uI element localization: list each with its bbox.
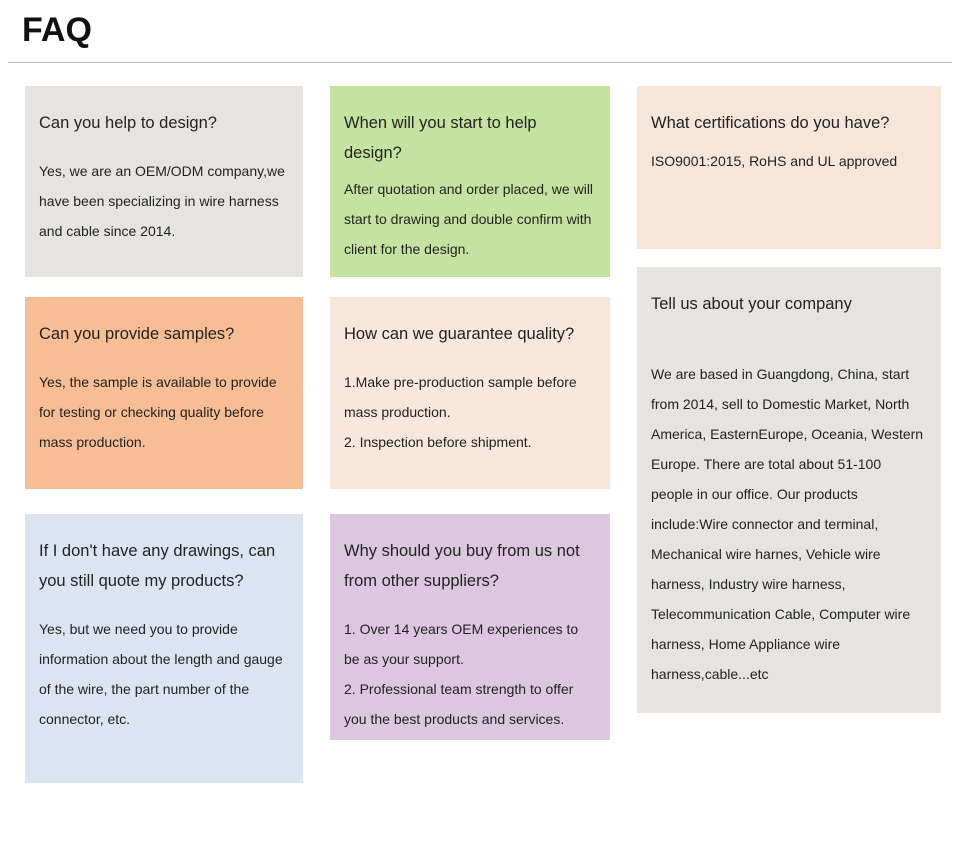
faq-card-drawings: If I don't have any drawings, can you st… — [25, 514, 303, 783]
faq-page: FAQ Can you help to design? Yes, we are … — [0, 0, 960, 842]
faq-card-quality: How can we guarantee quality? 1.Make pre… — [330, 297, 610, 489]
faq-answer: 1. Over 14 years OEM experiences to be a… — [344, 614, 596, 734]
faq-answer: After quotation and order placed, we wil… — [344, 174, 596, 264]
faq-question: What certifications do you have? — [651, 108, 927, 138]
faq-question: When will you start to help design? — [344, 108, 596, 168]
faq-question: If I don't have any drawings, can you st… — [39, 536, 289, 596]
faq-card-certifications: What certifications do you have? ISO9001… — [637, 86, 941, 249]
faq-answer: ISO9001:2015, RoHS and UL approved — [651, 146, 927, 176]
faq-answer: 1.Make pre-production sample before mass… — [344, 367, 596, 457]
faq-card-why-buy: Why should you buy from us not from othe… — [330, 514, 610, 740]
title-divider — [8, 62, 952, 63]
faq-card-start-help: When will you start to help design? Afte… — [330, 86, 610, 277]
faq-answer: We are based in Guangdong, China, start … — [651, 359, 927, 689]
faq-question: Can you help to design? — [39, 108, 289, 138]
faq-card-company: Tell us about your company We are based … — [637, 267, 941, 713]
faq-card-design: Can you help to design? Yes, we are an O… — [25, 86, 303, 277]
faq-question: Tell us about your company — [651, 289, 927, 319]
faq-question: Can you provide samples? — [39, 319, 289, 349]
faq-answer: Yes, but we need you to provide informat… — [39, 614, 289, 734]
faq-question: How can we guarantee quality? — [344, 319, 596, 349]
page-title: FAQ — [22, 8, 92, 52]
faq-card-samples: Can you provide samples? Yes, the sample… — [25, 297, 303, 489]
faq-answer: Yes, the sample is available to provide … — [39, 367, 289, 457]
faq-question: Why should you buy from us not from othe… — [344, 536, 596, 596]
faq-answer: Yes, we are an OEM/ODM company,we have b… — [39, 156, 289, 246]
